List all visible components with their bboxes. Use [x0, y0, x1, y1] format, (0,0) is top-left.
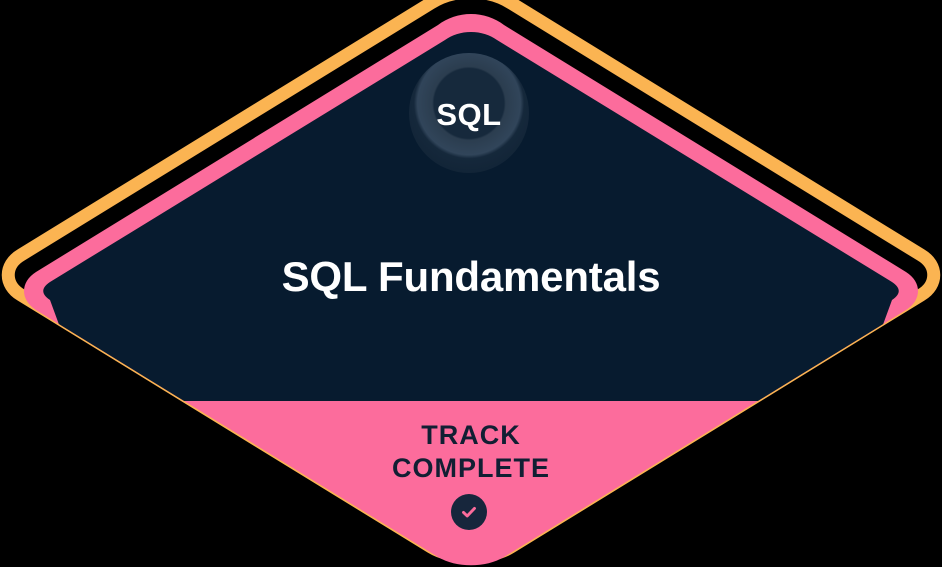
track-completion-badge: SQL SQL Fundamentals TRACK COMPLETE — [0, 0, 942, 567]
badge-shape-graphic — [0, 0, 942, 567]
inner-panel-path — [43, 32, 899, 401]
